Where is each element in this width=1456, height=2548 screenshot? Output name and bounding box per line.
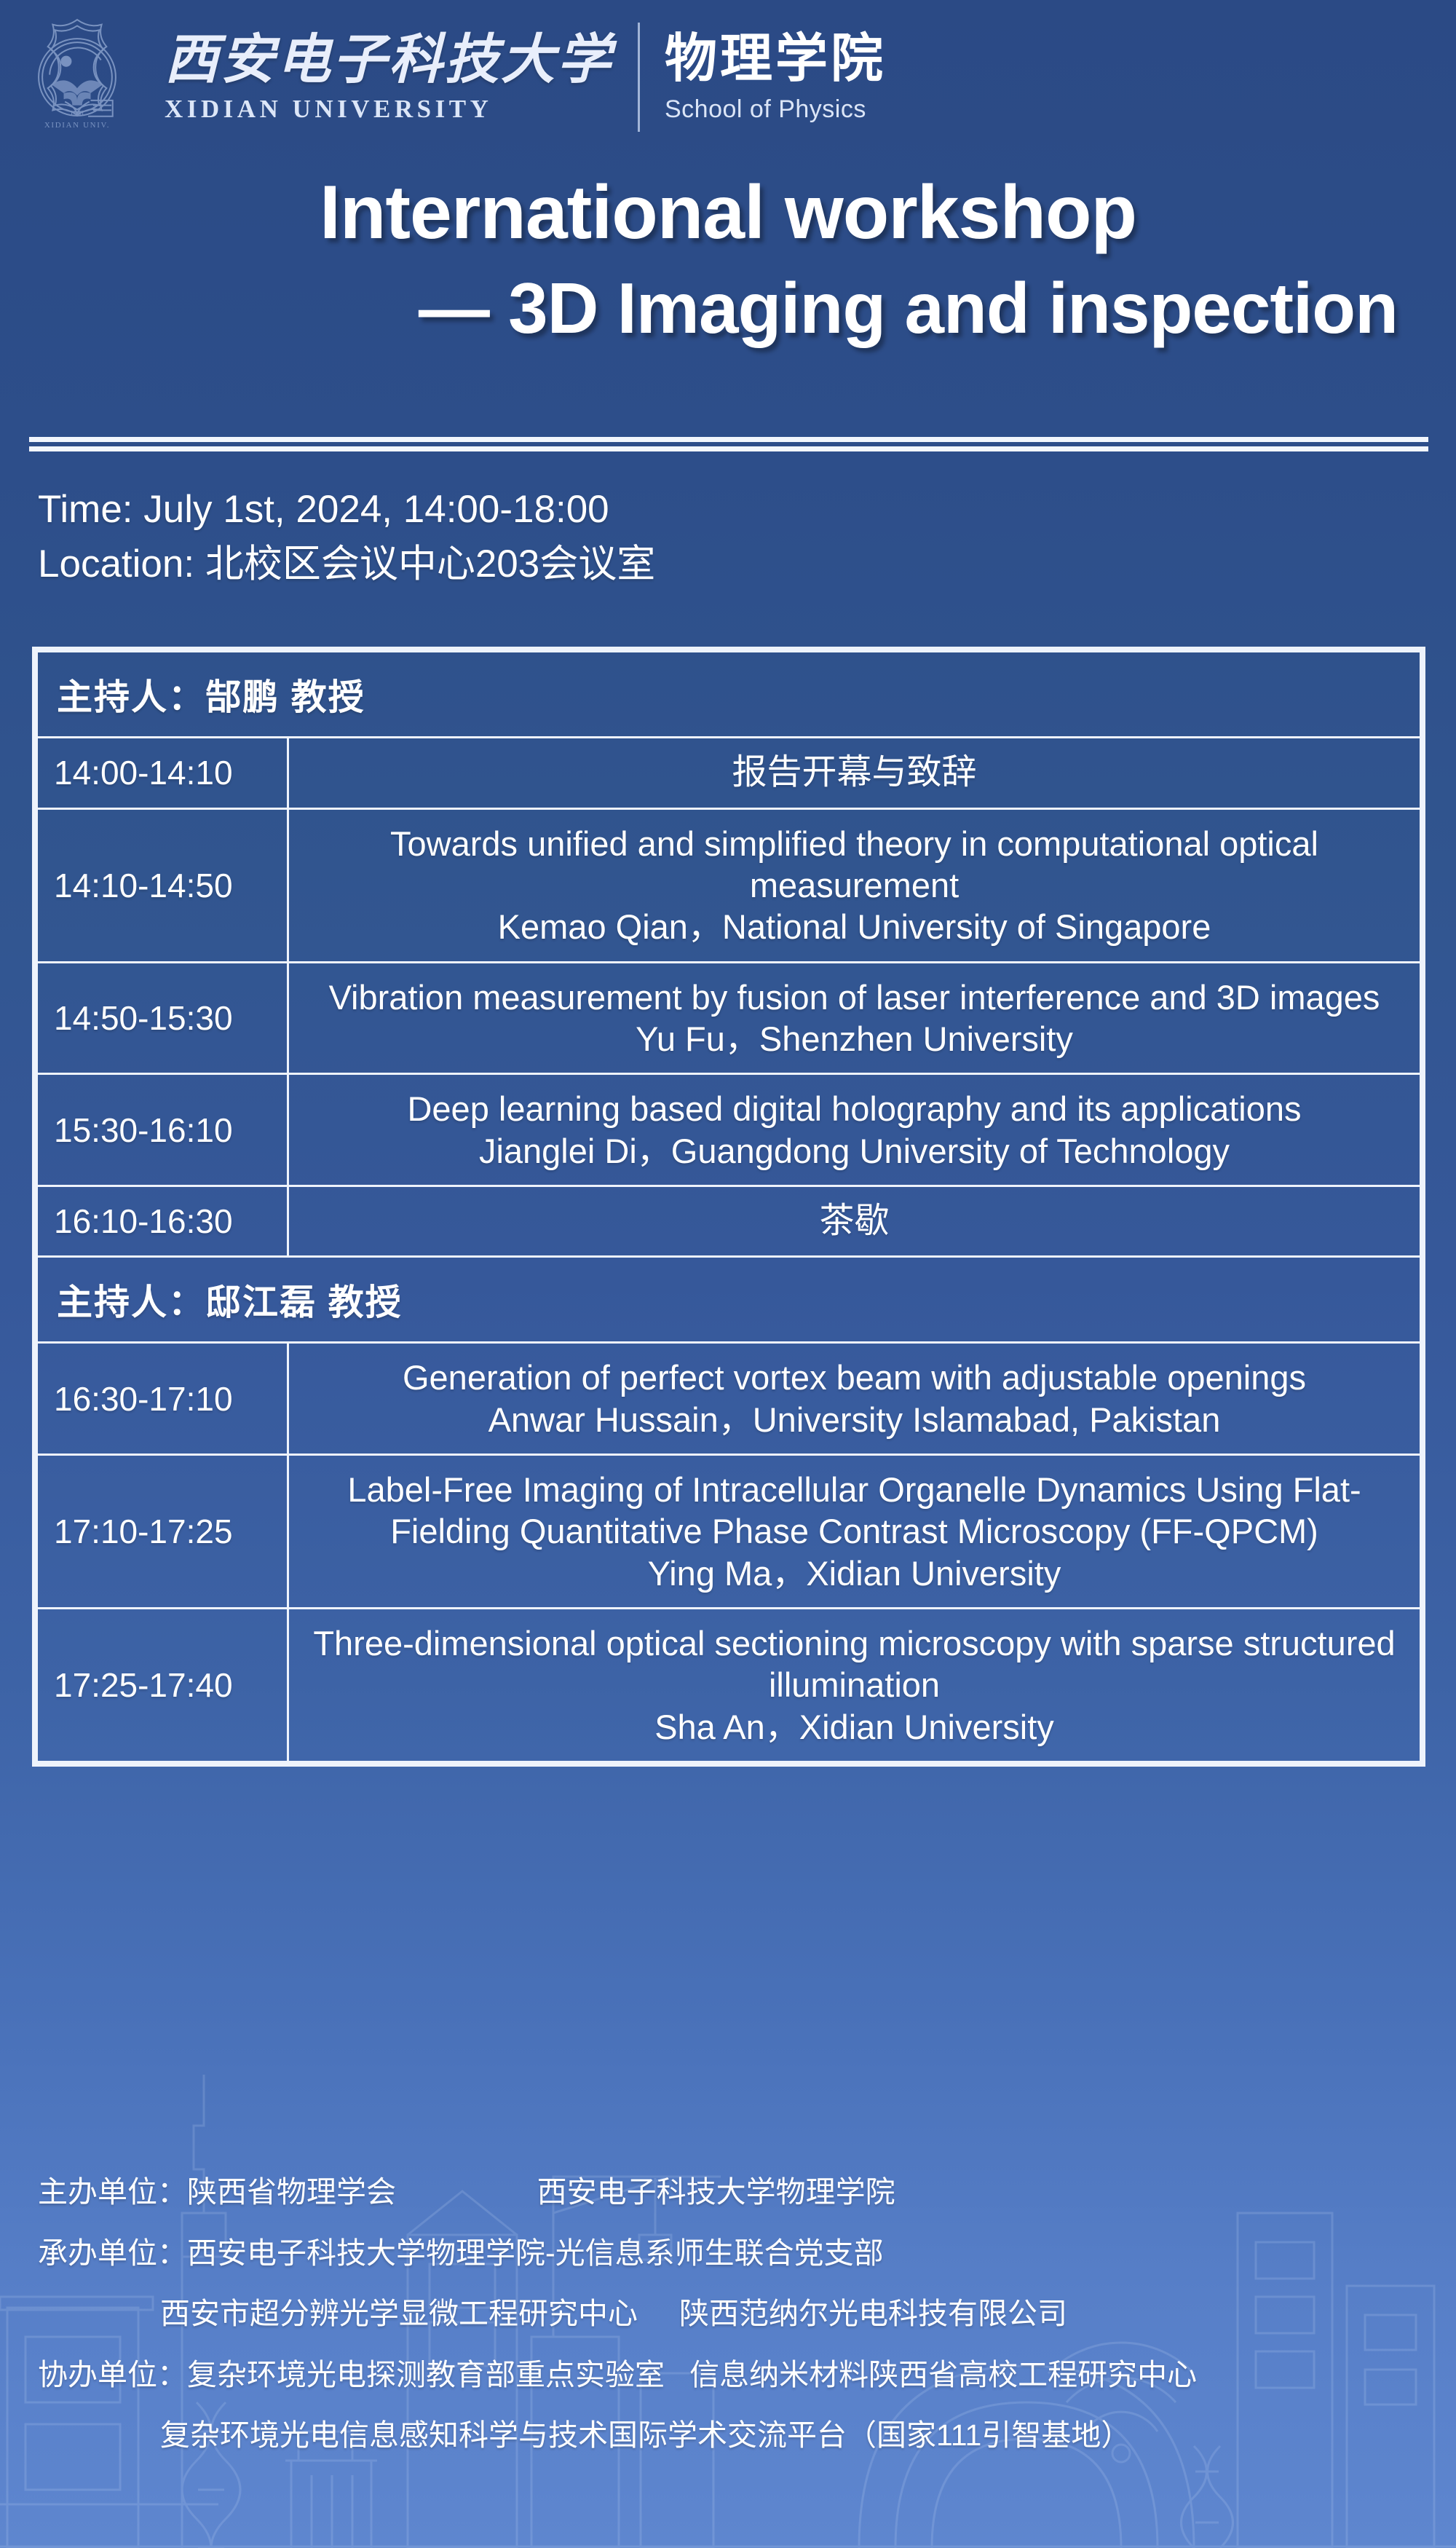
schedule-row: 16:10-16:30茶歇 xyxy=(37,1186,1421,1257)
schedule-topic: 报告开幕与致辞 xyxy=(288,738,1421,809)
university-name-en: XIDIAN UNIVERSITY xyxy=(165,96,613,122)
schedule-time: 14:00-14:10 xyxy=(37,738,288,809)
title-line-2: — 3D Imaging and inspection xyxy=(51,269,1405,348)
schedule-topic: Towards unified and simplified theory in… xyxy=(288,808,1421,962)
talk-title: 茶歇 xyxy=(819,1202,889,1240)
talk-speaker: Anwar Hussain，University Islamabad, Paki… xyxy=(301,1399,1408,1440)
svg-text:1931: 1931 xyxy=(70,110,84,118)
schedule-time: 17:25-17:40 xyxy=(37,1609,288,1762)
organizer-line: 承办单位：西安电子科技大学物理学院-光信息系师生联合党支部 xyxy=(38,2231,1418,2276)
university-wordmark: 西安电子科技大学 XIDIAN UNIVERSITY xyxy=(165,33,613,122)
svg-text:XIDIAN UNIV.: XIDIAN UNIV. xyxy=(44,121,110,130)
organizer-lines: 主办单位：陕西省物理学会 西安电子科技大学物理学院承办单位：西安电子科技大学物理… xyxy=(38,2170,1418,2458)
schedule-topic: Label-Free Imaging of Intracellular Orga… xyxy=(288,1455,1421,1609)
schedule-row: 14:50-15:30Vibration measurement by fusi… xyxy=(37,962,1421,1074)
talk-title: Towards unified and simplified theory in… xyxy=(390,824,1318,904)
talk-title: Label-Free Imaging of Intracellular Orga… xyxy=(347,1470,1361,1550)
organizers-footer: 主办单位：陕西省物理学会 西安电子科技大学物理学院承办单位：西安电子科技大学物理… xyxy=(0,2170,1456,2474)
schedule-topic: Deep learning based digital holography a… xyxy=(288,1074,1421,1186)
schedule-host-row: 主持人：郜鹏 教授 xyxy=(37,652,1421,738)
schedule-row: 14:00-14:10报告开幕与致辞 xyxy=(37,738,1421,809)
title-divider xyxy=(29,437,1428,454)
talk-title: Three-dimensional optical sectioning mic… xyxy=(313,1624,1395,1704)
schedule-time: 15:30-16:10 xyxy=(37,1074,288,1186)
schedule-time: 16:10-16:30 xyxy=(37,1186,288,1257)
poster-header: 1931 XIDIAN UNIV. 西安电子科技大学 XIDIAN UNIVER… xyxy=(0,0,1456,154)
event-time: Time: July 1st, 2024, 14:00-18:00 xyxy=(38,482,1421,537)
poster-title: International workshop — 3D Imaging and … xyxy=(0,172,1456,348)
event-meta: Time: July 1st, 2024, 14:00-18:00 Locati… xyxy=(38,482,1421,592)
talk-speaker: Kemao Qian，National University of Singap… xyxy=(301,906,1408,947)
schedule-time: 17:10-17:25 xyxy=(37,1455,288,1609)
header-divider xyxy=(638,23,640,132)
talk-speaker: Ying Ma，Xidian University xyxy=(301,1553,1408,1594)
session-host-label: 主持人：郜鹏 教授 xyxy=(37,652,1421,738)
talk-title: 报告开幕与致辞 xyxy=(732,753,976,792)
school-name-cn: 物理学院 xyxy=(665,33,886,85)
schedule-body: 主持人：郜鹏 教授14:00-14:10报告开幕与致辞14:10-14:50To… xyxy=(37,652,1421,1762)
talk-title: Deep learning based digital holography a… xyxy=(407,1089,1301,1128)
university-emblem-icon: 1931 XIDIAN UNIV. xyxy=(16,11,138,143)
schedule-time: 14:50-15:30 xyxy=(37,962,288,1074)
event-location: Location: 北校区会议中心203会议室 xyxy=(38,537,1421,591)
poster-root: 1931 XIDIAN UNIV. 西安电子科技大学 XIDIAN UNIVER… xyxy=(0,0,1456,2548)
schedule-table: 主持人：郜鹏 教授14:00-14:10报告开幕与致辞14:10-14:50To… xyxy=(32,647,1425,1767)
schedule-host-row: 主持人：邸江磊 教授 xyxy=(37,1257,1421,1343)
schedule-topic: Generation of perfect vortex beam with a… xyxy=(288,1343,1421,1455)
schedule-time: 16:30-17:10 xyxy=(37,1343,288,1455)
talk-speaker: Sha An，Xidian University xyxy=(301,1706,1408,1748)
organizer-line: 主办单位：陕西省物理学会 西安电子科技大学物理学院 xyxy=(38,2170,1418,2215)
talk-title: Vibration measurement by fusion of laser… xyxy=(329,978,1380,1017)
talk-speaker: Yu Fu，Shenzhen University xyxy=(301,1018,1408,1060)
schedule-topic: Vibration measurement by fusion of laser… xyxy=(288,962,1421,1074)
schedule-topic: Three-dimensional optical sectioning mic… xyxy=(288,1609,1421,1762)
university-name-cn: 西安电子科技大学 xyxy=(165,33,613,87)
school-wordmark: 物理学院 School of Physics xyxy=(665,33,886,122)
schedule-time: 14:10-14:50 xyxy=(37,808,288,962)
organizer-line: 复杂环境光电信息感知科学与技术国际学术交流平台（国家111引智基地） xyxy=(38,2413,1418,2458)
schedule-row: 16:30-17:10Generation of perfect vortex … xyxy=(37,1343,1421,1455)
schedule-topic: 茶歇 xyxy=(288,1186,1421,1257)
session-host-label: 主持人：邸江磊 教授 xyxy=(37,1257,1421,1343)
talk-speaker: Jianglei Di，Guangdong University of Tech… xyxy=(301,1130,1408,1172)
organizer-line: 协办单位：复杂环境光电探测教育部重点实验室 信息纳米材料陕西省高校工程研究中心 xyxy=(38,2353,1418,2398)
talk-title: Generation of perfect vortex beam with a… xyxy=(403,1358,1306,1397)
schedule-row: 17:25-17:40Three-dimensional optical sec… xyxy=(37,1609,1421,1762)
schedule-row: 14:10-14:50Towards unified and simplifie… xyxy=(37,808,1421,962)
schedule-row: 17:10-17:25Label-Free Imaging of Intrace… xyxy=(37,1455,1421,1609)
school-name-en: School of Physics xyxy=(665,97,886,122)
organizer-line: 西安市超分辨光学显微工程研究中心 陕西范纳尔光电科技有限公司 xyxy=(38,2292,1418,2337)
title-line-1: International workshop xyxy=(51,172,1405,253)
schedule-row: 15:30-16:10Deep learning based digital h… xyxy=(37,1074,1421,1186)
